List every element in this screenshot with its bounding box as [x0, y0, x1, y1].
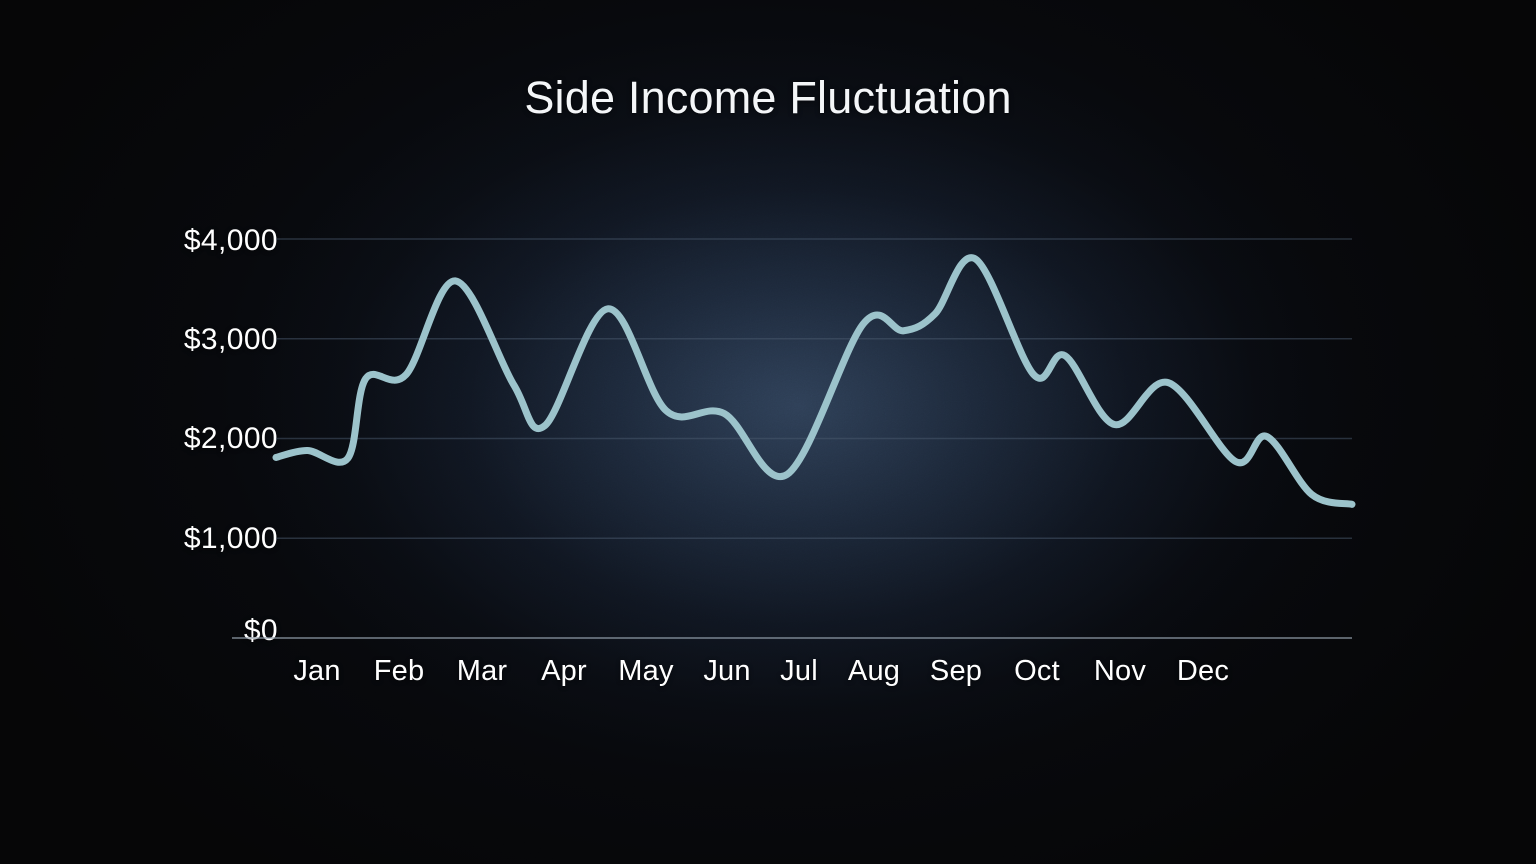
chart-plot-area — [0, 0, 1536, 864]
slide-canvas: Side Income Fluctuation $4,000 $3,000 $2… — [0, 0, 1536, 864]
gridlines-group — [276, 239, 1352, 538]
series-line-side-income — [276, 258, 1352, 505]
